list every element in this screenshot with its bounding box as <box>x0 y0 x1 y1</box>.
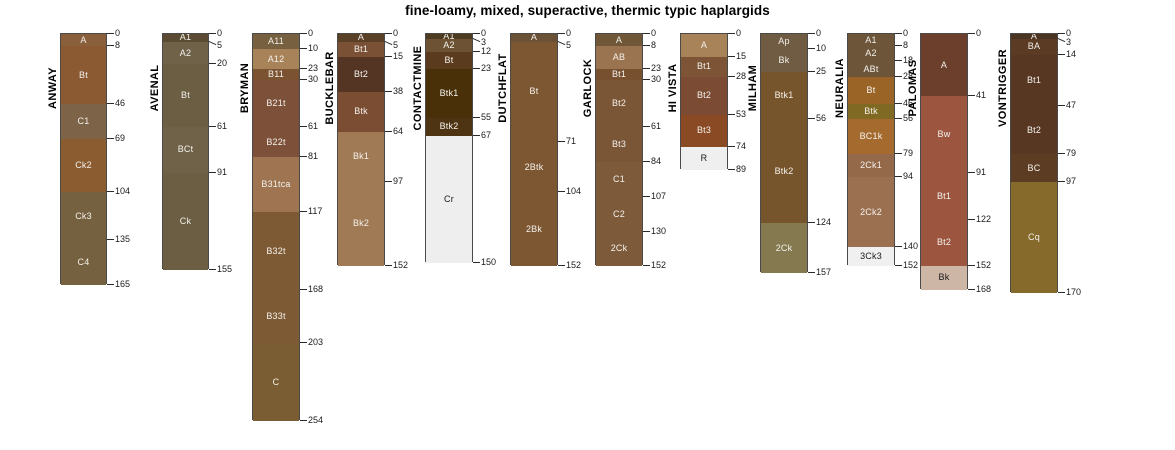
horizon-label: C4 <box>78 258 90 267</box>
depth-tick-label: 254 <box>308 416 323 425</box>
soil-horizon: B31tca <box>253 157 299 212</box>
profile-column: A11A12B11B21tB22tB31tcaB32tB33tC <box>252 33 300 420</box>
depth-tick <box>728 114 735 115</box>
horizon-label: Bt <box>445 56 454 65</box>
horizon-label: Ck <box>180 217 191 226</box>
horizon-label: A <box>941 61 947 70</box>
depth-tick-label: 140 <box>903 242 918 251</box>
depth-tick-label: 61 <box>651 122 661 131</box>
horizon-label: 2Btk <box>525 163 544 172</box>
depth-tick-label: 12 <box>481 47 491 56</box>
depth-tick <box>209 33 216 34</box>
depth-tick <box>107 45 114 46</box>
horizon-label: A <box>358 34 364 42</box>
depth-tick <box>473 117 480 118</box>
depth-tick <box>558 41 566 45</box>
horizon-label: BC <box>1028 164 1041 173</box>
depth-tick <box>895 60 902 61</box>
soil-horizon: A1 <box>163 34 208 42</box>
depth-tick <box>895 118 902 119</box>
depth-tick <box>895 33 902 34</box>
soil-horizon: Bt2 <box>921 220 967 266</box>
depth-tick-label: 84 <box>651 157 661 166</box>
depth-tick-label: 3 <box>481 38 486 47</box>
depth-tick <box>473 262 480 263</box>
horizon-label: C <box>273 378 280 387</box>
depth-tick <box>728 76 735 77</box>
depth-tick-label: 152 <box>393 261 408 270</box>
horizon-label: Bk2 <box>353 219 369 228</box>
depth-tick <box>385 265 392 266</box>
depth-tick <box>385 181 392 182</box>
profile-name-label: BRYMAN <box>239 33 251 143</box>
soil-horizon: R <box>681 147 727 170</box>
depth-tick-label: 0 <box>393 29 398 38</box>
depth-tick <box>643 45 650 46</box>
soil-horizon: B21t <box>253 80 299 127</box>
depth-tick <box>643 265 650 266</box>
depth-tick <box>300 68 307 69</box>
depth-tick <box>728 33 735 34</box>
soil-horizon: Bt1 <box>681 57 727 77</box>
depth-tick-label: 0 <box>651 29 656 38</box>
depth-tick <box>558 265 565 266</box>
soil-horizon: A1 <box>848 34 894 46</box>
profile-name-label: DUTCHFLAT <box>497 33 509 143</box>
horizon-label: B33t <box>266 312 285 321</box>
profile-column: ApBkBtk1Btk22Ck <box>760 33 808 272</box>
profile-name-label: HI VISTA <box>667 33 679 143</box>
soil-horizon: 2Bk <box>511 192 557 265</box>
depth-tick-label: 41 <box>976 91 986 100</box>
horizon-label: ABt <box>863 65 878 74</box>
depth-tick <box>968 33 975 34</box>
profile-column: ABt1Bt2BtkBk1Bk2 <box>337 33 385 265</box>
depth-tick-label: 47 <box>1066 101 1076 110</box>
soil-horizon: Bt <box>848 77 894 104</box>
depth-tick-label: 152 <box>903 261 918 270</box>
depth-tick-label: 30 <box>651 75 661 84</box>
depth-tick <box>209 172 216 173</box>
depth-tick-label: 203 <box>308 338 323 347</box>
soil-horizon: Bk <box>921 266 967 290</box>
depth-tick-label: 152 <box>566 261 581 270</box>
depth-tick <box>1058 105 1065 106</box>
soil-horizon: Ck3 <box>61 192 106 239</box>
profile-name-label: BUCKLEBAR <box>324 33 336 143</box>
depth-tick <box>895 176 902 177</box>
depth-tick-label: 0 <box>217 29 222 38</box>
depth-tick-label: 104 <box>115 187 130 196</box>
soil-horizon: Bt1 <box>1011 55 1057 105</box>
depth-tick <box>895 103 902 104</box>
depth-tick <box>808 71 815 72</box>
depth-tick-label: 38 <box>393 87 403 96</box>
depth-tick-label: 117 <box>308 207 322 216</box>
horizon-label: R <box>701 154 708 163</box>
soil-horizon: AB <box>596 46 642 69</box>
depth-tick <box>558 191 565 192</box>
depth-tick <box>1058 54 1065 55</box>
horizon-label: B32t <box>266 247 285 256</box>
horizon-label: Bt2 <box>1027 126 1041 135</box>
profile-name-label: MILHAM <box>747 33 759 143</box>
depth-tick <box>1058 38 1066 42</box>
soil-profile-chart: ANWAYABtC1Ck2Ck3C4084669104135165AVENALA… <box>0 0 1175 450</box>
soil-horizon: B22t <box>253 127 299 157</box>
depth-tick <box>895 153 902 154</box>
depth-tick <box>808 118 815 119</box>
soil-horizon: B32t <box>253 212 299 290</box>
depth-tick <box>1058 33 1065 34</box>
depth-tick-label: 61 <box>308 122 318 131</box>
depth-tick <box>300 126 307 127</box>
soil-horizon: B11 <box>253 69 299 80</box>
horizon-label: Cr <box>444 195 454 204</box>
depth-tick <box>107 191 114 192</box>
horizon-label: Ap <box>778 37 789 46</box>
soil-horizon: 2Ck <box>761 223 807 273</box>
horizon-label: Bw <box>938 130 951 139</box>
soil-horizon: A <box>921 34 967 96</box>
profile-column: ABABt1Bt2BCCq <box>1010 33 1058 292</box>
depth-tick <box>808 272 815 273</box>
depth-tick <box>385 41 393 45</box>
horizon-label: Bt1 <box>937 192 951 201</box>
horizon-label: Btk1 <box>440 89 459 98</box>
depth-tick <box>808 33 815 34</box>
soil-horizon: Btk2 <box>761 119 807 223</box>
horizon-label: Bt2 <box>354 70 368 79</box>
depth-tick-label: 61 <box>217 122 227 131</box>
soil-horizon: Ck <box>163 173 208 271</box>
soil-horizon: Cr <box>426 136 472 262</box>
depth-tick-label: 130 <box>651 227 666 236</box>
depth-tick <box>107 33 114 34</box>
depth-tick-label: 5 <box>217 41 222 50</box>
depth-tick <box>300 420 307 421</box>
horizon-label: 2Ck <box>611 244 628 253</box>
horizon-label: 3Ck3 <box>860 252 882 261</box>
soil-horizon: Bw <box>921 96 967 172</box>
depth-tick <box>300 289 307 290</box>
soil-horizon: A <box>511 34 557 42</box>
horizon-label: Bt <box>79 71 88 80</box>
horizon-label: 2Ck <box>776 244 793 253</box>
depth-tick <box>895 265 902 266</box>
profile-name-label: VONTRIGGER <box>997 33 1009 143</box>
horizon-label: A <box>531 34 537 42</box>
soil-horizon: Bt3 <box>681 115 727 147</box>
soil-horizon: Bt3 <box>596 127 642 162</box>
horizon-label: B31tca <box>261 180 290 189</box>
depth-tick <box>107 103 114 104</box>
soil-horizon: BC1k <box>848 119 894 154</box>
soil-horizon: 2Ck1 <box>848 154 894 177</box>
depth-tick <box>473 38 481 42</box>
horizon-label: 2Bk <box>526 225 542 234</box>
depth-tick-label: 107 <box>651 192 666 201</box>
depth-tick-label: 97 <box>393 177 403 186</box>
soil-horizon: Bk2 <box>338 182 384 266</box>
soil-horizon: Bt2 <box>338 57 384 92</box>
soil-horizon: A2 <box>426 39 472 53</box>
horizon-label: Bt <box>181 91 190 100</box>
depth-tick-label: 64 <box>393 127 403 136</box>
horizon-label: Bk <box>779 56 790 65</box>
depth-tick <box>300 211 307 212</box>
depth-tick <box>385 33 392 34</box>
horizon-label: Btk <box>354 107 368 116</box>
soil-horizon: C1 <box>596 162 642 197</box>
depth-tick <box>1058 292 1065 293</box>
depth-tick <box>895 246 902 247</box>
depth-tick <box>107 138 114 139</box>
depth-tick-label: 79 <box>903 149 913 158</box>
soil-horizon: Bk1 <box>338 132 384 182</box>
depth-tick <box>107 239 114 240</box>
depth-tick <box>643 126 650 127</box>
soil-horizon: A2 <box>163 42 208 65</box>
depth-tick <box>968 219 975 220</box>
depth-tick <box>558 141 565 142</box>
depth-tick-label: 157 <box>816 268 831 277</box>
soil-horizon: Bt1 <box>338 42 384 57</box>
depth-tick-label: 168 <box>976 285 991 294</box>
horizon-label: A <box>80 36 86 45</box>
soil-horizon: A <box>61 34 106 46</box>
depth-tick <box>558 33 565 34</box>
profile-column: A1A2ABtBtBtkBC1k2Ck12Ck23Ck3 <box>847 33 895 265</box>
depth-tick-label: 0 <box>566 29 571 38</box>
depth-tick-label: 91 <box>217 168 227 177</box>
depth-tick-label: 5 <box>393 41 398 50</box>
depth-tick <box>300 33 307 34</box>
soil-horizon: Cq <box>1011 182 1057 293</box>
depth-tick <box>209 269 216 270</box>
depth-tick <box>473 33 480 34</box>
soil-horizon: BC <box>1011 154 1057 181</box>
horizon-label: A <box>701 41 707 50</box>
horizon-label: Bt <box>867 86 876 95</box>
horizon-label: Btk <box>864 107 878 116</box>
depth-tick <box>209 41 217 45</box>
depth-tick <box>300 79 307 80</box>
depth-tick-label: 14 <box>1066 50 1076 59</box>
depth-tick-label: 0 <box>976 29 981 38</box>
depth-tick-label: 89 <box>736 165 746 174</box>
soil-horizon: A <box>338 34 384 42</box>
soil-horizon: Bt2 <box>681 77 727 115</box>
horizon-label: Bt <box>530 87 539 96</box>
depth-tick <box>895 76 902 77</box>
depth-tick-label: 0 <box>308 29 313 38</box>
soil-horizon: C4 <box>61 240 106 286</box>
depth-tick-label: 152 <box>976 261 991 270</box>
horizon-label: B21t <box>266 99 285 108</box>
depth-tick-label: 23 <box>308 64 318 73</box>
soil-horizon: C2 <box>596 197 642 232</box>
horizon-label: BCt <box>178 145 194 154</box>
horizon-label: BA <box>1028 42 1040 51</box>
profile-name-label: AVENAL <box>149 33 161 143</box>
soil-horizon: Btk <box>848 104 894 119</box>
depth-tick-label: 3 <box>1066 38 1071 47</box>
soil-horizon: A <box>681 34 727 57</box>
depth-tick <box>968 172 975 173</box>
depth-tick <box>300 156 307 157</box>
soil-horizon: A2 <box>848 46 894 61</box>
horizon-label: A11 <box>268 37 284 46</box>
depth-tick-label: 23 <box>651 64 661 73</box>
profile-name-label: PALOMAS <box>907 33 919 143</box>
horizon-label: Btk1 <box>775 91 794 100</box>
soil-horizon: Bk <box>761 49 807 72</box>
horizon-label: C2 <box>613 210 625 219</box>
depth-tick <box>473 68 480 69</box>
soil-horizon: Bt2 <box>1011 106 1057 155</box>
depth-tick-label: 69 <box>115 134 125 143</box>
depth-tick-label: 10 <box>308 44 318 53</box>
soil-horizon: BA <box>1011 39 1057 56</box>
depth-tick-label: 0 <box>816 29 821 38</box>
depth-tick-label: 67 <box>481 131 491 140</box>
horizon-label: Ck2 <box>75 161 92 170</box>
soil-horizon: C <box>253 343 299 421</box>
profile-column: A1A2BtBtk1Btk2Cr <box>425 33 473 262</box>
depth-tick <box>968 95 975 96</box>
depth-tick-label: 23 <box>481 64 491 73</box>
depth-tick <box>643 33 650 34</box>
depth-tick <box>300 48 307 49</box>
soil-horizon: Bt <box>163 64 208 126</box>
depth-tick-label: 135 <box>115 235 130 244</box>
profile-column: ABwBt1Bt2Bk <box>920 33 968 289</box>
depth-tick-label: 79 <box>1066 149 1076 158</box>
horizon-label: Bk1 <box>353 152 369 161</box>
horizon-label: C1 <box>613 175 625 184</box>
horizon-label: Bt1 <box>354 45 368 54</box>
soil-horizon: A11 <box>253 34 299 49</box>
depth-tick <box>808 48 815 49</box>
soil-horizon: 2Ck <box>596 232 642 266</box>
depth-tick <box>1058 181 1065 182</box>
horizon-label: Bk <box>939 273 950 282</box>
depth-tick <box>473 51 480 52</box>
horizon-label: C1 <box>78 117 90 126</box>
depth-tick <box>643 68 650 69</box>
soil-horizon: A <box>596 34 642 46</box>
horizon-label: A2 <box>180 49 191 58</box>
horizon-label: Bt3 <box>612 140 626 149</box>
profile-column: A1A2BtBCtCk <box>162 33 209 269</box>
horizon-label: AB <box>613 53 625 62</box>
depth-tick <box>643 161 650 162</box>
depth-tick <box>385 91 392 92</box>
soil-horizon: 2Ck2 <box>848 177 894 247</box>
depth-tick-label: 152 <box>651 261 666 270</box>
depth-tick <box>808 222 815 223</box>
depth-tick <box>968 289 975 290</box>
depth-tick <box>968 265 975 266</box>
depth-tick <box>209 63 216 64</box>
horizon-label: A1 <box>865 36 876 45</box>
depth-tick-label: 55 <box>481 113 491 122</box>
horizon-label: B11 <box>268 70 284 79</box>
soil-horizon: Bt <box>511 42 557 143</box>
depth-tick-label: 74 <box>736 142 746 151</box>
soil-horizon: BCt <box>163 127 208 173</box>
horizon-label: Btk2 <box>775 167 794 176</box>
depth-tick-label: 30 <box>308 75 318 84</box>
horizon-label: Btk2 <box>440 122 459 131</box>
depth-tick-label: 20 <box>217 59 227 68</box>
depth-tick-label: 0 <box>115 29 120 38</box>
depth-tick-label: 15 <box>393 52 403 61</box>
soil-horizon: Bt2 <box>596 80 642 127</box>
depth-tick-label: 28 <box>736 72 746 81</box>
horizon-label: Bt2 <box>697 91 711 100</box>
depth-tick <box>473 135 480 136</box>
horizon-label: Ck3 <box>75 212 92 221</box>
profile-column: ABt2Btk2Bk <box>510 33 558 265</box>
depth-tick <box>895 45 902 46</box>
soil-horizon: A12 <box>253 49 299 69</box>
soil-horizon: Bt <box>61 46 106 104</box>
soil-horizon: Bt1 <box>596 69 642 80</box>
depth-tick <box>728 169 735 170</box>
depth-tick <box>107 284 114 285</box>
soil-horizon: Btk <box>338 92 384 132</box>
depth-tick <box>209 126 216 127</box>
horizon-label: A2 <box>865 49 876 58</box>
depth-tick-label: 56 <box>816 114 826 123</box>
depth-tick <box>643 196 650 197</box>
profile-column: ABtC1Ck2Ck3C4 <box>60 33 107 284</box>
horizon-label: B22t <box>266 138 285 147</box>
horizon-label: Cq <box>1028 233 1040 242</box>
depth-tick-label: 8 <box>651 41 656 50</box>
depth-tick-label: 150 <box>481 258 496 267</box>
depth-tick-label: 46 <box>115 99 125 108</box>
horizon-label: BC1k <box>860 132 883 141</box>
profile-name-label: NEURALIA <box>834 33 846 143</box>
soil-horizon: Btk1 <box>426 69 472 118</box>
depth-tick-label: 0 <box>736 29 741 38</box>
depth-tick-label: 8 <box>115 41 120 50</box>
soil-horizon: Bt1 <box>921 173 967 220</box>
soil-horizon: C1 <box>61 104 106 139</box>
depth-tick-label: 97 <box>1066 177 1076 186</box>
depth-tick <box>385 131 392 132</box>
horizon-label: A1 <box>180 34 191 42</box>
soil-horizon: B33t <box>253 290 299 343</box>
horizon-label: Bt2 <box>612 99 626 108</box>
depth-tick-label: 91 <box>976 168 986 177</box>
depth-tick <box>300 342 307 343</box>
depth-tick <box>643 231 650 232</box>
soil-horizon: 2Btk <box>511 142 557 192</box>
depth-tick-label: 71 <box>566 137 576 146</box>
profile-name-label: CONTACTMINE <box>412 33 424 143</box>
depth-tick <box>728 146 735 147</box>
horizon-label: A <box>616 36 622 45</box>
horizon-label: Bt1 <box>612 70 626 79</box>
horizon-label: 2Ck1 <box>860 161 882 170</box>
depth-tick-label: 168 <box>308 285 323 294</box>
depth-tick-label: 104 <box>566 187 581 196</box>
horizon-label: Bt3 <box>697 126 711 135</box>
